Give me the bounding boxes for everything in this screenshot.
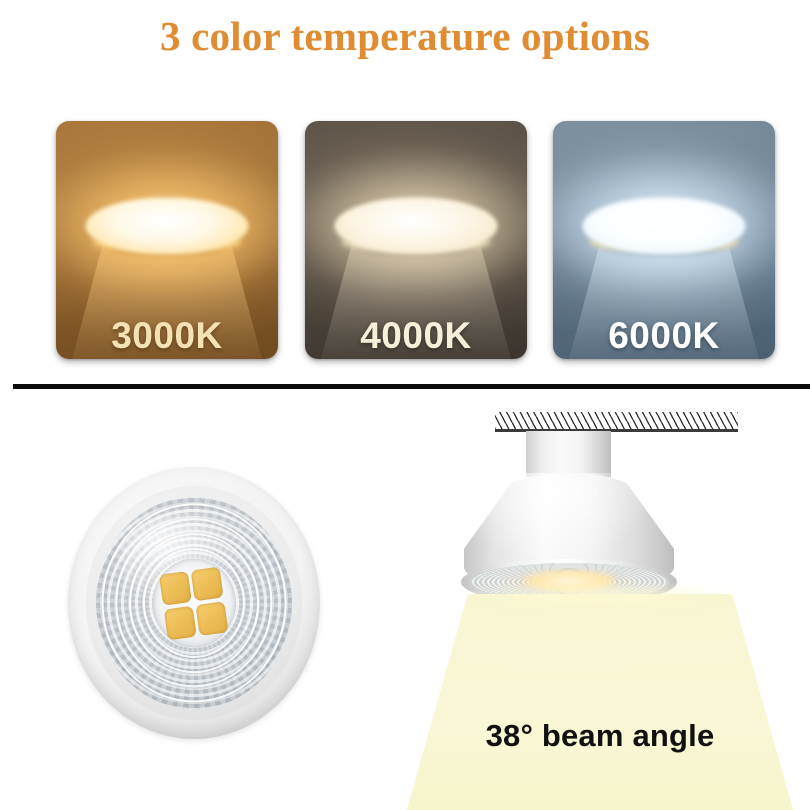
color-temperature-card-group: 3000K 4000K 6000K	[56, 121, 775, 359]
led-chip-cluster	[159, 566, 229, 640]
beam-angle-label: 38° beam angle	[390, 718, 810, 754]
led-chip	[196, 600, 229, 635]
product-infographic: 3 color temperature options 3000K 4000K …	[0, 0, 810, 810]
beam-source-glow	[390, 587, 810, 627]
lamp-neck	[526, 431, 611, 477]
bottom-section: 38° beam angle	[0, 389, 810, 810]
card-label-6000k: 6000K	[553, 317, 775, 356]
led-chip	[164, 605, 197, 640]
led-chip	[159, 571, 192, 606]
led-spotlight-front-view	[68, 467, 320, 739]
led-well	[153, 558, 236, 647]
card-label-3000k: 3000K	[56, 317, 278, 356]
color-temperature-card-3000k[interactable]: 3000K	[56, 121, 278, 359]
color-temperature-card-6000k[interactable]: 6000K	[553, 121, 775, 359]
lit-lens-3000k	[86, 197, 249, 254]
led-chip	[191, 566, 224, 601]
lit-lens-4000k	[335, 197, 498, 254]
ceiling-hatch-icon	[495, 412, 738, 430]
card-label-4000k: 4000K	[305, 317, 527, 356]
page-title: 3 color temperature options	[0, 12, 810, 60]
bulb-reflector	[96, 497, 293, 709]
color-temperature-card-4000k[interactable]: 4000K	[305, 121, 527, 359]
lit-lens-6000k	[583, 197, 746, 254]
beam-angle-diagram: 38° beam angle	[390, 389, 810, 810]
